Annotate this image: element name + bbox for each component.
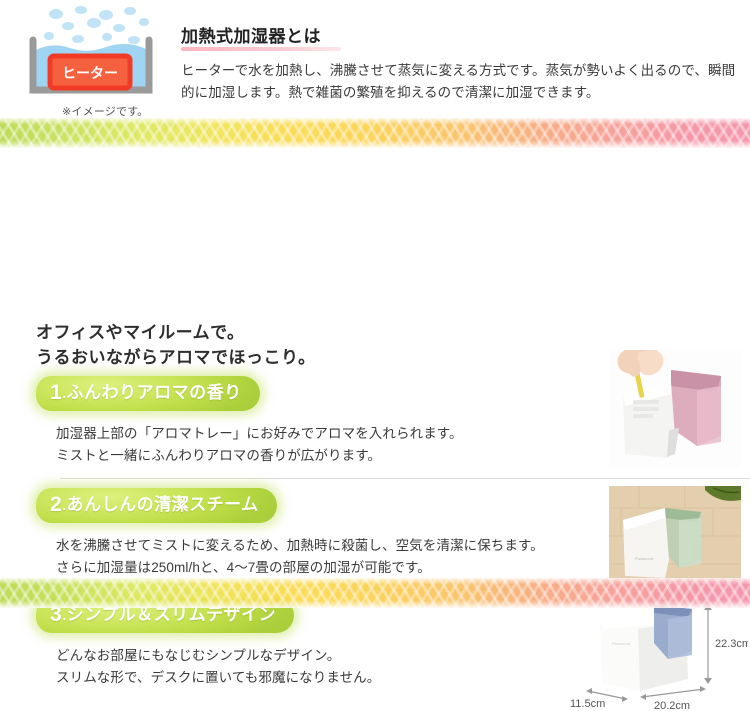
dimension-width-label: 20.2cm [654,700,690,711]
product-photo-steam: Panasonic [609,486,741,583]
product-feature-page: ヒーター ※イメージです。 加熱式加湿器とは ヒーターで水を加熱し、沸騰させて蒸… [0,0,750,612]
feature-title-2: あんしんの清潔スチーム [67,495,259,514]
feature-body-1: 加湿器上部の「アロマトレー」にお好みでアロマを入れられます。ミストと一緒にふんわ… [56,423,596,467]
illustration-caption: ※イメージです。 [62,103,149,119]
feature-number-2: 2 [50,493,62,516]
top-section: ヒーター ※イメージです。 加熱式加湿器とは ヒーターで水を加熱し、沸騰させて蒸… [0,0,750,118]
feature-number-1: 1 [50,381,62,404]
main-heading-line1: オフィスやマイルームで。 [36,320,316,345]
feature-badge-1: 1.ふんわりアロマの香り [36,376,260,411]
feature-badge-2: 2.あんしんの清潔スチーム [36,488,277,523]
main-heading-line2: うるおいながらアロマでほっこり。 [36,345,316,370]
dimension-depth-label: 11.5cm [570,698,605,710]
feature-title-1: ふんわりアロマの香り [67,383,242,402]
rainbow-divider-bottom [0,578,750,608]
svg-text:Panasonic: Panasonic [612,641,631,646]
product-photo-aroma [609,350,741,467]
svg-text:Panasonic: Panasonic [635,556,654,561]
feature-body-2: 水を沸騰させてミストに変えるため、加熱時に殺菌し、空気を清潔に保ちます。さらに加… [56,535,596,579]
main-heading: オフィスやマイルームで。 うるおいながらアロマでほっこり。 [36,320,316,370]
feature-body-3: どんなお部屋にもなじむシンプルなデザイン。スリムな形で、デスクに置いても邪魔にな… [56,645,596,689]
product-dimension-diagram: Panasonic 22.3cm 20.2cm 11.5cm [568,595,748,711]
rainbow-divider-top [0,118,750,148]
title-underline [181,47,341,51]
heater-label: ヒーター [62,65,118,81]
top-description: ヒーターで水を加熱し、沸騰させて蒸気に変える方式です。蒸気が勢いよく出るので、瞬… [181,60,741,104]
main-content: オフィスやマイルームで。 うるおいながらアロマでほっこり。 1.ふんわりアロマの… [0,148,750,554]
dimension-height-label: 22.3cm [715,638,748,650]
heater-diagram-illustration: ヒーター [18,6,168,102]
page-title: 加熱式加湿器とは [181,22,321,47]
section-separator-1 [60,478,750,479]
